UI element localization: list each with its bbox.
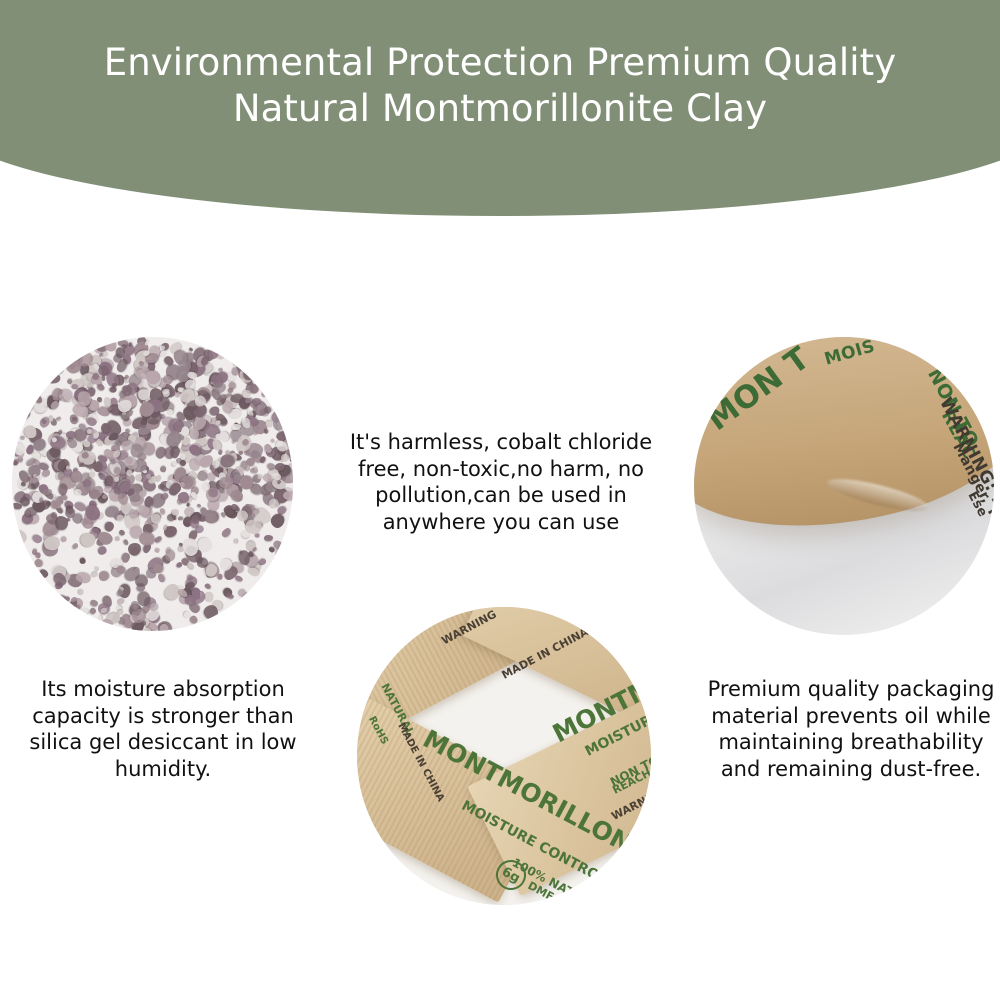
clay-granule: [249, 624, 258, 631]
clay-granule: [263, 427, 269, 434]
clay-granule: [35, 552, 41, 559]
clay-granule: [55, 515, 69, 530]
clay-granule: [218, 429, 231, 443]
clay-granule: [164, 550, 174, 561]
clay-granule: [252, 547, 257, 552]
clay-granule: [234, 575, 243, 583]
four-packets-image: MONTMORILLO MOISTURE CONT NON TOXIC REAC…: [357, 607, 651, 905]
clay-granule: [257, 619, 263, 624]
clay-granule: [130, 600, 139, 610]
clay-granule: [116, 609, 123, 615]
clay-granule: [291, 502, 293, 510]
clay-granule: [16, 547, 24, 555]
clay-granule: [196, 470, 207, 481]
clay-granule: [66, 430, 77, 437]
clay-granule: [87, 620, 95, 628]
page-title: Environmental Protection Premium Quality…: [0, 40, 1000, 132]
clay-granule: [282, 490, 293, 499]
clay-granule: [202, 560, 208, 565]
clay-granule: [288, 527, 293, 533]
clay-granule: [166, 513, 175, 522]
clay-granule: [58, 483, 67, 495]
caption-premium-packaging: Premium quality packaging material preve…: [707, 676, 995, 782]
clay-granule: [109, 386, 116, 392]
clay-granule: [131, 547, 140, 555]
clay-granule: [213, 341, 218, 347]
clay-granule: [204, 629, 214, 631]
clay-granule: [257, 557, 267, 566]
clay-granule: [21, 436, 25, 440]
clay-granule: [265, 420, 273, 428]
clay-granule: [66, 611, 73, 618]
clay-granule: [101, 618, 113, 628]
clay-granule: [209, 464, 213, 469]
clay-granule: [227, 388, 233, 393]
clay-granule: [118, 529, 125, 536]
clay-granule: [80, 533, 96, 549]
clay-granule: [292, 600, 293, 609]
clay-granule: [90, 570, 99, 578]
caption-harmless: It's harmless, cobalt chloride free, non…: [340, 429, 662, 535]
clay-granule: [114, 536, 120, 541]
clay-granule: [255, 534, 260, 538]
clay-granule: [79, 558, 86, 565]
clay-granule: [128, 342, 131, 346]
clay-granules-image: [12, 337, 293, 631]
clay-granule: [71, 384, 77, 389]
clay-granule-texture: [12, 337, 293, 631]
clay-granule: [55, 416, 61, 421]
clay-granule: [270, 396, 278, 405]
clay-granule: [56, 339, 62, 345]
clay-granule: [21, 559, 31, 569]
clay-granule: [275, 383, 279, 389]
clay-granule: [288, 565, 293, 570]
clay-granule: [60, 536, 67, 543]
clay-granule: [98, 473, 106, 481]
clay-granule: [269, 511, 287, 529]
clay-granule: [48, 417, 53, 422]
clay-granule: [97, 570, 110, 583]
clay-granule: [219, 337, 226, 345]
clay-granule: [111, 383, 116, 388]
clay-granule: [232, 368, 239, 376]
clay-granule: [221, 526, 233, 538]
clay-granule: [276, 339, 285, 351]
clay-granule: [106, 475, 113, 485]
clay-granule: [72, 542, 79, 549]
clay-granule: [222, 400, 233, 413]
clay-granule: [51, 595, 57, 601]
clay-granule: [40, 475, 43, 479]
clay-granule: [264, 606, 269, 611]
clay-granule: [204, 583, 212, 591]
clay-granule: [192, 625, 203, 631]
clay-granule: [138, 530, 155, 546]
caption-moisture-absorption: Its moisture absorption capacity is stro…: [18, 676, 308, 782]
clay-granule: [34, 559, 42, 568]
clay-granule: [89, 607, 97, 615]
clay-granule: [157, 572, 166, 583]
clay-granule: [230, 503, 237, 510]
clay-granule: [271, 438, 276, 443]
clay-granule: [43, 535, 62, 551]
clay-granule: [251, 376, 259, 384]
clay-granule: [39, 497, 44, 502]
clay-granule: [96, 545, 108, 556]
clay-granule: [38, 568, 50, 580]
clay-granule: [154, 535, 163, 543]
clay-granule: [206, 592, 214, 602]
packet-closeup-image: MON T MOIS NON TO REAC WARNING: De Mange…: [694, 337, 994, 635]
clay-granule: [12, 528, 29, 547]
clay-granule: [25, 510, 29, 516]
clay-granule: [281, 606, 288, 613]
clay-granule: [105, 341, 116, 352]
clay-granule: [31, 533, 44, 545]
clay-granule: [233, 539, 238, 544]
clay-granule: [257, 475, 261, 480]
clay-granule: [154, 548, 160, 553]
header-banner: Environmental Protection Premium Quality…: [0, 0, 1000, 216]
clay-granule: [178, 516, 183, 520]
clay-granule: [77, 588, 84, 595]
clay-granule: [93, 565, 99, 571]
clay-granule: [196, 503, 201, 508]
clay-granule: [264, 534, 274, 540]
clay-granule: [160, 466, 166, 473]
clay-granule: [165, 409, 174, 417]
infographic-page: Environmental Protection Premium Quality…: [0, 0, 1000, 1000]
